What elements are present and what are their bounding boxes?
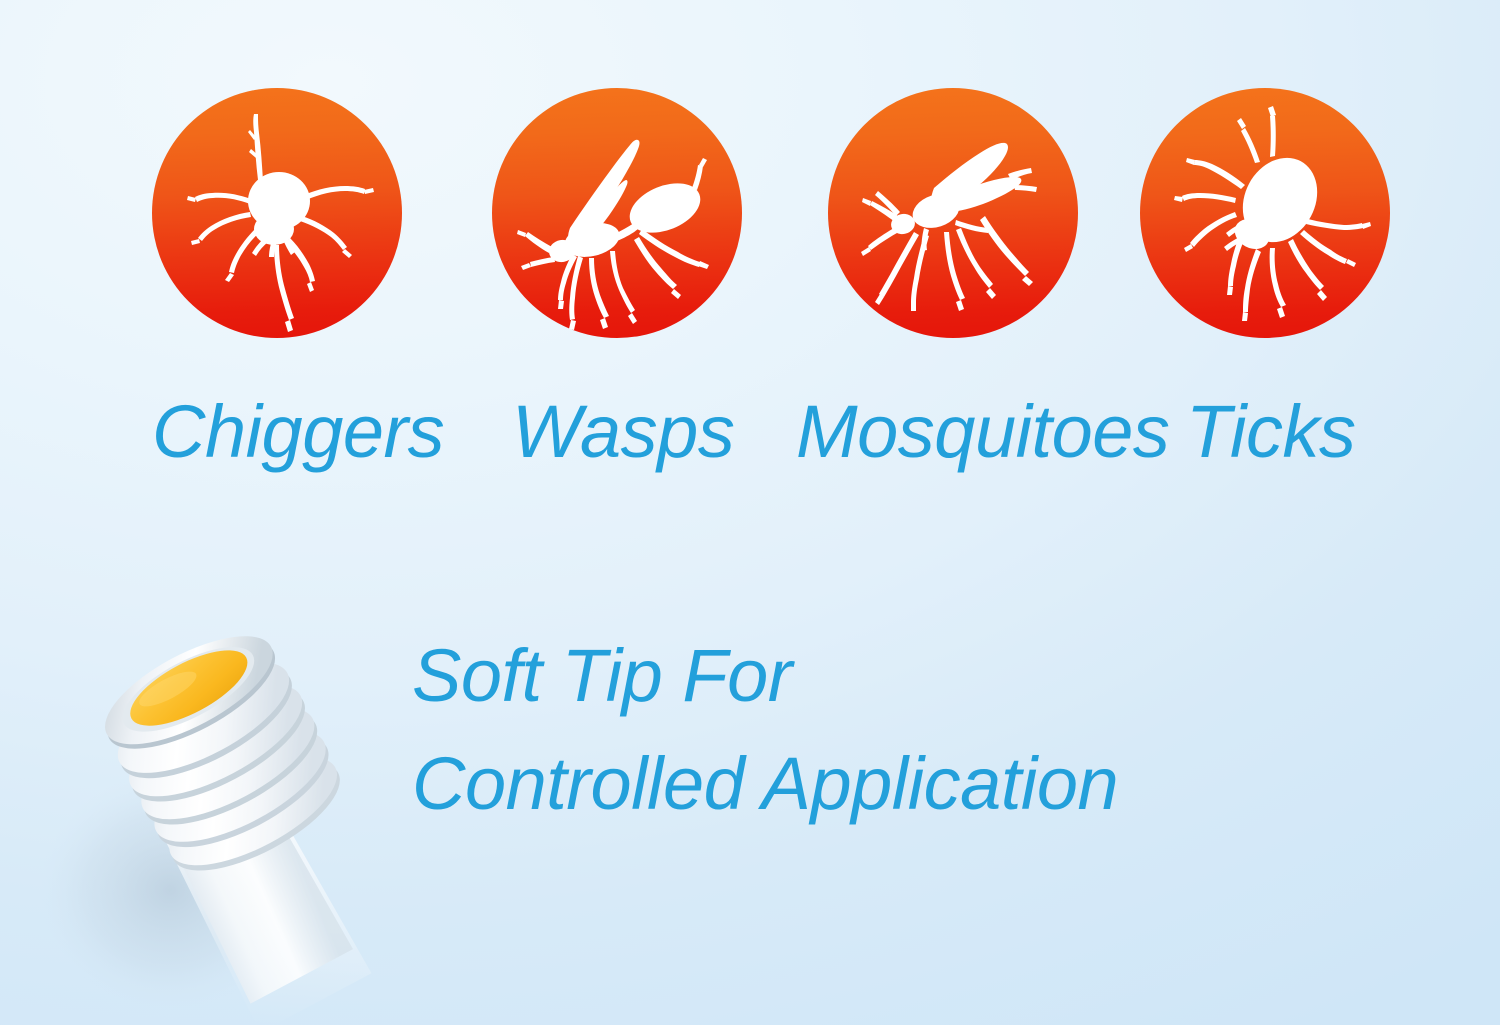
pest-badge-mosquitoes xyxy=(828,88,1078,338)
pest-label-mosquitoes: Mosquitoes xyxy=(796,386,1169,478)
pest-badge-wasps xyxy=(492,88,742,338)
pest-label-wasps: Wasps xyxy=(512,386,734,478)
tick-icon xyxy=(1140,88,1390,338)
pest-badge-disc xyxy=(492,88,742,338)
pest-label-chiggers: Chiggers xyxy=(152,386,444,478)
chigger-icon xyxy=(152,88,402,338)
soft-tip-applicator xyxy=(20,560,420,1025)
wasp-icon xyxy=(492,88,742,338)
pest-badge-disc xyxy=(1140,88,1390,338)
pest-badge-ticks xyxy=(1140,88,1390,338)
pest-badge-disc xyxy=(152,88,402,338)
pest-badge-disc xyxy=(828,88,1078,338)
tagline-line-1: Soft Tip For xyxy=(412,630,1312,722)
pest-badge-chiggers xyxy=(152,88,402,338)
mosquito-icon xyxy=(828,88,1078,338)
product-feature-panel: Chiggers Wasps Mosquitoes Ticks xyxy=(0,0,1500,1025)
tagline-line-2: Controlled Application xyxy=(412,738,1312,830)
pest-label-row: Chiggers Wasps Mosquitoes Ticks xyxy=(0,386,1500,478)
applicator-illustration xyxy=(20,560,420,1025)
tagline-block: Soft Tip For Controlled Application xyxy=(412,630,1312,830)
pest-label-ticks: Ticks xyxy=(1186,386,1356,478)
